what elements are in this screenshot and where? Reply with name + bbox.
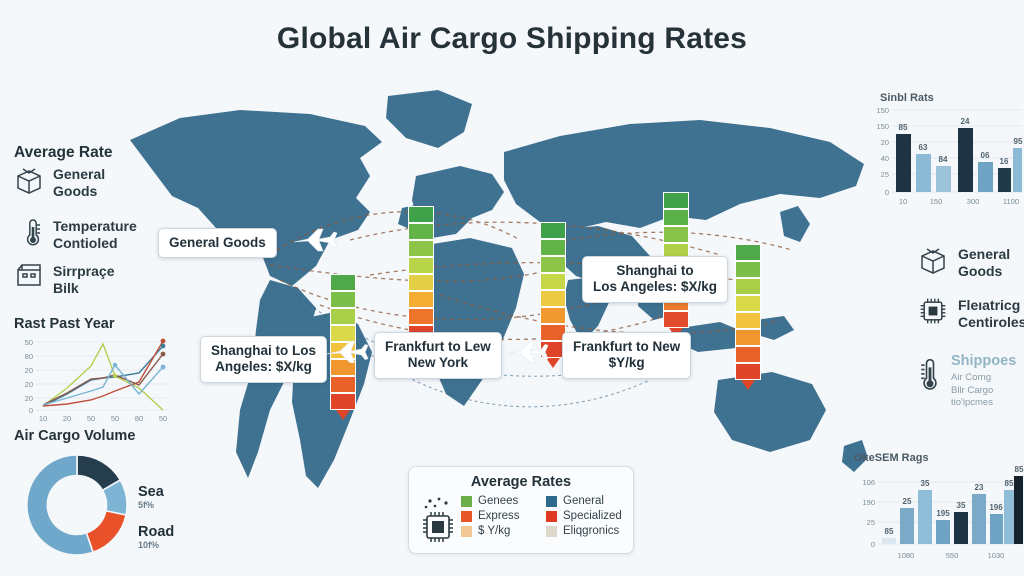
legend-entry[interactable]: Express: [461, 510, 540, 522]
svg-text:10: 10: [39, 414, 47, 423]
rate-stack-segment: [735, 244, 761, 261]
rate-stack-segment: [663, 192, 689, 209]
svg-text:25: 25: [881, 170, 889, 179]
rate-stack-segment: [408, 206, 434, 223]
svg-text:20: 20: [25, 380, 33, 389]
line-series: [43, 341, 163, 410]
svg-text:1030: 1030: [988, 551, 1005, 560]
svg-text:150: 150: [876, 122, 889, 131]
infographic-canvas: Global Air Cargo Shipping Rates: [0, 0, 1024, 576]
rate-stack-segment: [408, 291, 434, 308]
shippes-block[interactable]: Shippoes Air Corng Bllr Cargo tio'ipcmes: [918, 352, 1016, 410]
svg-text:195: 195: [936, 509, 950, 518]
right-legend-item-general-goods[interactable]: General Goods: [918, 246, 1010, 279]
legend-item-temperature-controlled[interactable]: Temperature Contioled: [22, 216, 137, 253]
chart-title: Air Cargo Volume: [14, 428, 135, 444]
airplane-icon: [325, 338, 369, 373]
donut-label-road: Road 10f%: [138, 524, 174, 550]
legend-swatch: [461, 496, 472, 507]
callout-shanghai-la-left[interactable]: Shanghai to Los Angeles: $X/kg: [200, 336, 327, 383]
callout-shanghai-la-upper[interactable]: Shanghai to Los Angeles: $X/kg: [582, 256, 728, 303]
legend-entry[interactable]: Specialized: [546, 510, 625, 522]
svg-text:63: 63: [919, 143, 928, 152]
svg-text:85: 85: [899, 123, 908, 132]
svg-text:50: 50: [25, 338, 33, 347]
legend-entry-label: Express: [478, 510, 520, 522]
x-tick-labels: 10150 3001100: [899, 197, 1019, 206]
svg-text:85: 85: [1005, 479, 1014, 488]
svg-text:150: 150: [876, 106, 889, 115]
open-box-icon: [14, 166, 44, 199]
svg-text:550: 550: [946, 551, 959, 560]
x-tick-labels: 10805501030: [898, 551, 1005, 560]
svg-text:25: 25: [903, 497, 912, 506]
donut-label-sea: Sea 5f%: [138, 484, 164, 510]
legend-entry-label: $ Y/kg: [478, 525, 510, 537]
rate-stack-segment: [663, 226, 689, 243]
rate-stack-segment: [735, 363, 761, 380]
legend-item-surcharge-bulk[interactable]: Sirrpraçe Bilk: [14, 262, 114, 297]
svg-text:24: 24: [961, 117, 970, 126]
legend-swatch: [546, 496, 557, 507]
svg-text:16: 16: [1000, 157, 1009, 166]
rate-stack-segment: [330, 291, 356, 308]
donut-label-value: 10f%: [138, 540, 174, 550]
air-cargo-volume-chart: Air Cargo Volume Sea 5f% Road 10f%: [12, 428, 192, 568]
y-tick-labels: 508020 20200: [25, 338, 33, 415]
open-box-icon: [918, 246, 948, 279]
rate-stack-segment: [540, 307, 566, 324]
svg-text:300: 300: [967, 197, 980, 206]
svg-text:0: 0: [29, 406, 33, 415]
legend-entry[interactable]: Genees: [461, 495, 540, 507]
rate-stack-segment: [330, 308, 356, 325]
rate-stack-segment: [408, 240, 434, 257]
svg-text:06: 06: [981, 151, 990, 160]
rate-stack-segment: [330, 376, 356, 393]
rate-stack-segment: [735, 278, 761, 295]
legend-swatch: [461, 526, 472, 537]
legend-item-label: General Goods: [53, 166, 105, 198]
rate-stack-segment: [408, 223, 434, 240]
rate-stack-segment: [330, 393, 356, 410]
rate-stack-segment: [330, 274, 356, 291]
legend-entries: Genees General Express Specialized $ Y/k…: [461, 495, 625, 537]
thermometer-icon: [918, 352, 942, 403]
svg-text:0: 0: [871, 540, 875, 549]
right-legend-item-electronics[interactable]: Fleıatricg Centiroles: [918, 296, 1024, 331]
y-tick-labels: 15015020 40250: [876, 106, 889, 197]
legend-entry[interactable]: $ Y/kg: [461, 525, 540, 537]
svg-text:80: 80: [135, 414, 143, 423]
y-tick-labels: 106190 250: [862, 478, 875, 549]
rate-stack-segment: [735, 312, 761, 329]
legend-item-label: Sirrpraçe Bilk: [53, 263, 114, 295]
rate-stack-segment: [735, 295, 761, 312]
donut-label-value: 5f%: [138, 500, 164, 510]
chip-icon: [918, 296, 948, 331]
svg-text:20: 20: [63, 414, 71, 423]
rate-stack-segment: [408, 257, 434, 274]
donut-slices: [27, 455, 127, 555]
legend-swatch: [546, 526, 557, 537]
world-map-svg: [120, 80, 910, 500]
chip-icon: [421, 497, 455, 548]
legend-entry-label: General: [563, 495, 604, 507]
chart-title: Sinbl Rats: [880, 92, 934, 104]
rate-stack-segment: [663, 311, 689, 328]
legend-swatch: [546, 511, 557, 522]
legend-card-title: Average Rates: [409, 474, 633, 490]
svg-text:190: 190: [862, 498, 875, 507]
rate-stack-segment: [408, 308, 434, 325]
svg-text:35: 35: [957, 501, 966, 510]
legend-item-label: Temperature Contioled: [53, 218, 137, 250]
svg-text:50: 50: [87, 414, 95, 423]
rate-stack-segment: [663, 209, 689, 226]
stack-atlantic: [408, 206, 434, 352]
airplane-icon: [292, 226, 338, 261]
legend-swatch: [461, 511, 472, 522]
shipping-rates-bar-top-chart: Sinbl Rats 15015020 40250 856384: [866, 92, 1024, 220]
svg-text:80: 80: [25, 352, 33, 361]
svg-text:95: 95: [1014, 137, 1023, 146]
page-title: Global Air Cargo Shipping Rates: [0, 22, 1024, 56]
shippes-heading: Shippoes: [951, 353, 1016, 369]
svg-text:40: 40: [881, 154, 889, 163]
rate-stack-segment: [540, 222, 566, 239]
donut-chart-svg: [18, 446, 136, 564]
rate-stack-segment: [540, 290, 566, 307]
package-box-icon: [14, 262, 44, 297]
left-legend-heading: Average Rate: [14, 144, 113, 162]
bar-bottom-svg: 106190 250 852535 1953523 1968585 108: [844, 464, 1024, 574]
rate-stack-segment: [735, 261, 761, 278]
airplane-icon: [505, 338, 549, 373]
svg-text:84: 84: [939, 155, 948, 164]
world-map: [120, 80, 910, 500]
svg-text:85: 85: [885, 527, 894, 536]
svg-text:106: 106: [862, 478, 875, 487]
donut-label-text: Road: [138, 524, 174, 540]
callout-general-goods[interactable]: General Goods: [158, 228, 277, 258]
average-rates-legend-card: Average Rates: [408, 466, 634, 554]
svg-text:20: 20: [25, 394, 33, 403]
callout-frankfurt-lew-ny[interactable]: Frankfurt to Lew New York: [374, 332, 502, 379]
chart-title: Rast Past Year: [14, 316, 115, 332]
map-pin-icon: [336, 410, 350, 420]
rate-stack-segment: [735, 329, 761, 346]
shippes-subtext: Air Corng Bllr Cargo tio'ipcmes: [951, 372, 1016, 410]
rate-stack-segment: [735, 346, 761, 363]
donut-label-text: Sea: [138, 484, 164, 500]
stack-asia-south: [735, 244, 761, 390]
legend-entry[interactable]: General: [546, 495, 625, 507]
rate-stack-segment: [540, 239, 566, 256]
svg-text:23: 23: [975, 483, 984, 492]
legend-entry[interactable]: Eliqgronics: [546, 525, 625, 537]
svg-text:20: 20: [881, 138, 889, 147]
svg-text:10: 10: [899, 197, 907, 206]
svg-text:50: 50: [111, 414, 119, 423]
svg-text:196: 196: [989, 503, 1003, 512]
rate-stack-segment: [540, 273, 566, 290]
svg-text:35: 35: [921, 479, 930, 488]
right-legend-item-label: General Goods: [958, 246, 1010, 278]
legend-entry-label: Eliqgronics: [563, 525, 619, 537]
svg-text:25: 25: [867, 518, 875, 527]
thermometer-icon: [22, 216, 44, 253]
right-legend-item-label: Fleıatricg Centiroles: [958, 297, 1024, 329]
svg-text:85: 85: [1015, 465, 1024, 474]
svg-text:20: 20: [25, 366, 33, 375]
rate-stack-segment: [540, 256, 566, 273]
svg-text:0: 0: [885, 188, 889, 197]
line-chart-svg: 508020 20200 102050 508050: [12, 336, 172, 424]
svg-text:1100: 1100: [1003, 197, 1019, 206]
chart-title: OkeSEM Rags: [854, 452, 929, 464]
rate-past-year-chart: Rast Past Year 508020 20200 102050 50805…: [12, 316, 172, 421]
shipping-rates-bar-bottom-chart: OkeSEM Rags 106190 250: [844, 448, 1024, 574]
x-tick-labels: 102050 508050: [39, 414, 167, 423]
bar-top-svg: 15015020 40250 856384 240616 95 10150 30…: [866, 104, 1024, 216]
svg-text:50: 50: [159, 414, 167, 423]
legend-item-general-goods[interactable]: General Goods: [14, 166, 105, 199]
map-pin-icon: [741, 380, 755, 390]
legend-entry-label: Specialized: [563, 510, 622, 522]
legend-entry-label: Genees: [478, 495, 518, 507]
svg-text:1080: 1080: [898, 551, 915, 560]
rate-stack-segment: [408, 274, 434, 291]
svg-text:150: 150: [930, 197, 943, 206]
callout-frankfurt-new[interactable]: Frankfurt to New $Y/kg: [562, 332, 691, 379]
